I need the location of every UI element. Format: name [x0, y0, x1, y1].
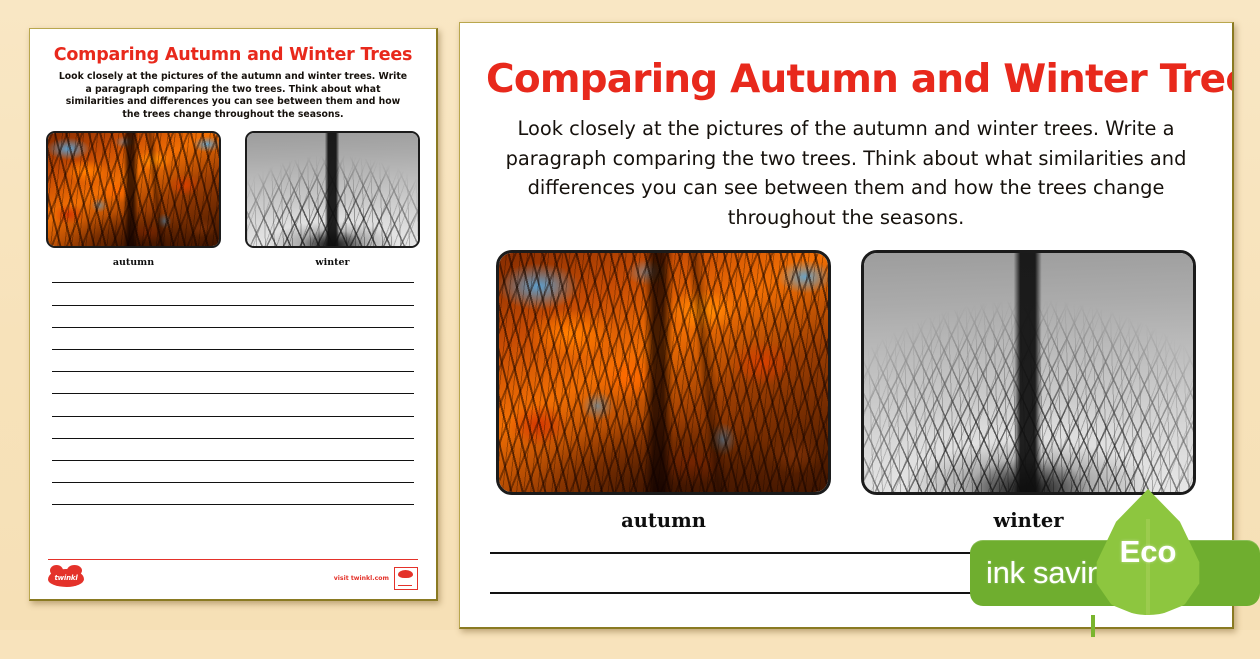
writing-line [52, 327, 414, 328]
figure-autumn: autumn [496, 250, 831, 532]
preview-footer: twinkl visit twinkl.com [48, 559, 418, 591]
twinkl-logo-icon[interactable]: twinkl [48, 569, 84, 587]
writing-line [52, 438, 414, 439]
worksheet-preview-page[interactable]: Comparing Autumn and Winter Trees Look c… [29, 28, 438, 601]
writing-line [52, 504, 414, 505]
twinkl-logo-text: twinkl [54, 574, 77, 582]
visit-site-label: visit twinkl.com [334, 575, 389, 582]
preview-page-content: Comparing Autumn and Winter Trees Look c… [30, 29, 436, 599]
preview-caption-autumn: autumn [46, 257, 221, 268]
preview-caption-winter: winter [245, 257, 420, 268]
writing-line [52, 460, 414, 461]
visit-site-group[interactable]: visit twinkl.com [334, 567, 418, 590]
footer-row: twinkl visit twinkl.com [48, 565, 418, 591]
autumn-tree-photo [46, 131, 221, 248]
winter-tree-photo [861, 250, 1196, 495]
intro-text: Look closely at the pictures of the autu… [486, 114, 1206, 232]
caption-autumn: autumn [496, 509, 831, 532]
preview-figure-autumn: autumn [46, 131, 221, 268]
eco-badge-leaf-label: Eco [1091, 489, 1205, 615]
writing-line [52, 371, 414, 372]
footer-divider [48, 559, 418, 560]
writing-line [52, 482, 414, 483]
winter-tree-photo [245, 131, 420, 248]
writing-line [52, 282, 414, 283]
writing-line [52, 393, 414, 394]
autumn-tree-photo [496, 250, 831, 495]
preview-page-title: Comparing Autumn and Winter Trees [48, 45, 418, 65]
preview-figure-winter: winter [245, 131, 420, 268]
writing-line [52, 305, 414, 306]
preview-intro-text: Look closely at the pictures of the autu… [48, 71, 418, 121]
page-title: Comparing Autumn and Winter Trees [486, 57, 1206, 102]
ink-saving-eco-badge[interactable]: ink saving Eco [925, 482, 1260, 630]
preview-writing-lines [48, 282, 418, 505]
writing-line [52, 416, 414, 417]
writing-line [52, 349, 414, 350]
leaf-stem-icon [1091, 615, 1095, 637]
twinkl-stamp-icon [394, 567, 418, 590]
preview-figure-row: autumn winter [48, 131, 418, 268]
